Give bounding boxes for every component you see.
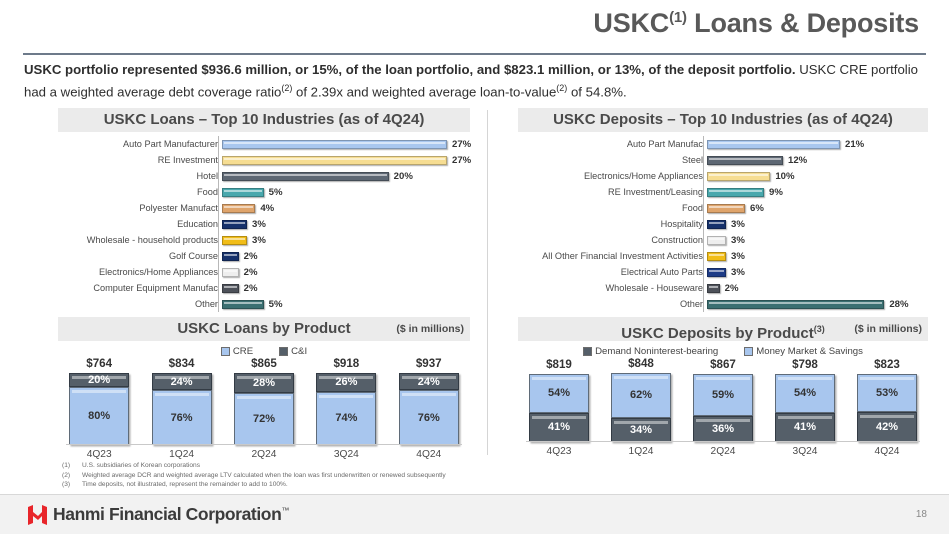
xaxis-deposits-product: 4Q231Q242Q243Q244Q24 <box>518 446 928 457</box>
stack-segment: 53% <box>857 374 917 412</box>
bar-category-label: Education <box>58 219 222 229</box>
bar <box>222 140 447 149</box>
bar-row: Hospitality3% <box>518 216 928 232</box>
panel-loans-product-header: USKC Loans by Product ($ in millions) <box>58 317 470 341</box>
bar <box>707 268 726 277</box>
stack-segment: 54% <box>529 374 589 413</box>
bar <box>707 236 726 245</box>
subtitle-footnote-ref-a: (2) <box>281 83 292 93</box>
xaxis-tick-label: 2Q24 <box>686 446 760 457</box>
stack-segment: 59% <box>693 374 753 416</box>
legend-label: CRE <box>233 346 253 357</box>
bar-category-label: Wholesale - household products <box>58 235 222 245</box>
bar <box>222 188 264 197</box>
panel-loans-industries-header: USKC Loans – Top 10 Industries (as of 4Q… <box>58 108 470 132</box>
xaxis-tick-label: 4Q23 <box>522 446 596 457</box>
stacked-column: $76420%80% <box>62 357 136 445</box>
column-total-label: $798 <box>792 358 818 371</box>
xaxis-tick-label: 4Q24 <box>392 449 466 460</box>
bar <box>707 188 764 197</box>
bar-category-label: Polyester Manufact <box>58 203 222 213</box>
footer: Hanmi Financial Corporation™ 18 <box>0 494 949 534</box>
stack-segment: 41% <box>775 413 835 443</box>
bar-track: 21% <box>707 136 928 152</box>
stack: 20%80% <box>69 373 129 445</box>
subtitle-bold: USKC portfolio represented $936.6 millio… <box>24 62 796 77</box>
bar-value-label: 27% <box>452 139 471 150</box>
stack-segment: 41% <box>529 413 589 443</box>
bar-category-label: Food <box>518 203 707 213</box>
subtitle: USKC portfolio represented $936.6 millio… <box>24 60 929 101</box>
bar-row: Steel12% <box>518 152 928 168</box>
bar-row: Auto Part Manufac21% <box>518 136 928 152</box>
bar-track: 3% <box>222 232 470 248</box>
column-total-label: $848 <box>628 357 654 370</box>
bar-value-label: 5% <box>269 187 283 198</box>
bar-category-label: Computer Equipment Manufac <box>58 283 222 293</box>
bar-row: Hotel20% <box>58 168 470 184</box>
bar-row: RE Investment/Leasing9% <box>518 184 928 200</box>
bar <box>707 220 726 229</box>
xaxis-loans-product: 4Q231Q242Q243Q244Q24 <box>58 449 470 460</box>
bar-track: 5% <box>222 296 470 312</box>
bar-row: Golf Course2% <box>58 248 470 264</box>
baseline <box>66 444 462 445</box>
bar <box>707 252 726 261</box>
bar <box>222 284 239 293</box>
subtitle-rest-3: of 54.8%. <box>567 84 626 99</box>
legend-loans-product: CREC&I <box>58 346 470 357</box>
page-title-rest: Loans & Deposits <box>687 8 919 38</box>
stack-segment: 42% <box>857 412 917 442</box>
bar-value-label: 3% <box>731 251 745 262</box>
stack: 24%76% <box>399 373 459 445</box>
bar-category-label: Construction <box>518 235 707 245</box>
bar-value-label: 2% <box>244 267 258 278</box>
stack-segment: 62% <box>611 373 671 418</box>
stack: 28%72% <box>234 373 294 445</box>
bar-value-label: 3% <box>731 267 745 278</box>
xaxis-tick-label: 1Q24 <box>604 446 678 457</box>
bar-value-label: 2% <box>725 283 739 294</box>
bar-row: Polyester Manufact4% <box>58 200 470 216</box>
panel-divider <box>487 110 488 455</box>
bar-track: 3% <box>707 264 928 280</box>
bar-category-label: Hospitality <box>518 219 707 229</box>
bar-category-label: Golf Course <box>58 251 222 261</box>
stacked-column: $82353%42% <box>850 358 924 442</box>
stack: 53%42% <box>857 374 917 442</box>
bar-track: 20% <box>222 168 470 184</box>
stack: 59%36% <box>693 374 753 442</box>
brand-logo: Hanmi Financial Corporation™ <box>28 504 289 525</box>
footnote-text: Time deposits, not illustrated, represen… <box>82 480 288 490</box>
column-total-label: $937 <box>416 357 442 370</box>
bar <box>222 204 255 213</box>
bar-category-label: Other <box>518 299 707 309</box>
bar <box>222 252 239 261</box>
bar-track: 2% <box>222 280 470 296</box>
stacked-column: $91826%74% <box>309 357 383 445</box>
baseline <box>526 441 920 442</box>
footnotes: (1)U.S. subsidiaries of Korean corporati… <box>62 461 446 490</box>
legend-swatch <box>583 347 592 356</box>
bar-category-label: Electronics/Home Appliances <box>58 267 222 277</box>
bar-track: 2% <box>222 248 470 264</box>
page-title-footnote-ref: (1) <box>669 9 687 26</box>
xaxis-tick-label: 1Q24 <box>145 449 219 460</box>
bar-track: 12% <box>707 152 928 168</box>
bar-row: Construction3% <box>518 232 928 248</box>
columns-loans-product: $76420%80%$83424%76%$86528%72%$91826%74%… <box>58 357 470 445</box>
stack-segment: 36% <box>693 416 753 442</box>
bar-row: Computer Equipment Manufac2% <box>58 280 470 296</box>
panel-deposits-product-units: ($ in millions) <box>854 317 922 341</box>
legend-swatch <box>744 347 753 356</box>
bar-value-label: 6% <box>750 203 764 214</box>
stack-segment: 24% <box>152 373 212 390</box>
bar-row: Auto Part Manufacturer27% <box>58 136 470 152</box>
stack-segment: 54% <box>775 374 835 413</box>
chart-deposits-top10: Auto Part Manufac21%Steel12%Electronics/… <box>518 132 928 312</box>
panel-loans-product-title: USKC Loans by Product <box>177 317 350 341</box>
bar-category-label: All Other Financial Investment Activitie… <box>518 251 707 261</box>
bar <box>707 156 783 165</box>
column-total-label: $865 <box>251 357 277 370</box>
bar-value-label: 3% <box>731 219 745 230</box>
bar-row: Wholesale - household products3% <box>58 232 470 248</box>
footnote: (2)Weighted average DCR and weighted ave… <box>62 471 446 481</box>
bar-track: 2% <box>707 280 928 296</box>
bar-category-label: Electrical Auto Parts <box>518 267 707 277</box>
bar-row: Electronics/Home Appliances10% <box>518 168 928 184</box>
bar-row: Food5% <box>58 184 470 200</box>
hanmi-logo-icon <box>28 505 47 525</box>
legend-item: Demand Noninterest-bearing <box>583 346 718 357</box>
column-total-label: $918 <box>333 357 359 370</box>
bar-category-label: Auto Part Manufacturer <box>58 139 222 149</box>
legend-deposits-product: Demand Noninterest-bearingMoney Market &… <box>518 346 928 357</box>
legend-swatch <box>279 347 288 356</box>
bar-track: 6% <box>707 200 928 216</box>
bar <box>707 204 745 213</box>
bar-track: 2% <box>222 264 470 280</box>
bar-row: Education3% <box>58 216 470 232</box>
bar-value-label: 3% <box>731 235 745 246</box>
stack-segment: 72% <box>234 393 294 445</box>
chart-loans-top10: Auto Part Manufacturer27%RE Investment27… <box>58 132 470 312</box>
stack-segment: 74% <box>316 392 376 445</box>
xaxis-tick-label: 4Q23 <box>62 449 136 460</box>
bar-row: Electronics/Home Appliances2% <box>58 264 470 280</box>
title-divider <box>23 53 926 55</box>
legend-swatch <box>221 347 230 356</box>
bar-track: 3% <box>222 216 470 232</box>
legend-item: Money Market & Savings <box>744 346 863 357</box>
panel-loans-industries: USKC Loans – Top 10 Industries (as of 4Q… <box>58 108 470 312</box>
column-total-label: $834 <box>169 357 195 370</box>
bar-value-label: 12% <box>788 155 807 166</box>
bar-value-label: 28% <box>889 299 908 310</box>
subtitle-footnote-ref-b: (2) <box>556 83 567 93</box>
bar-category-label: Food <box>58 187 222 197</box>
bar <box>707 140 840 149</box>
bar-category-label: Electronics/Home Appliances <box>518 171 707 181</box>
bar-value-label: 4% <box>260 203 274 214</box>
stack: 62%34% <box>611 373 671 442</box>
bar-row: Other28% <box>518 296 928 312</box>
bar <box>707 300 884 309</box>
stack: 54%41% <box>529 374 589 442</box>
panel-deposits-product-title: USKC Deposits by Product <box>621 322 814 346</box>
bar-track: 3% <box>707 216 928 232</box>
bar-value-label: 2% <box>244 283 258 294</box>
footnote-text: U.S. subsidiaries of Korean corporations <box>82 461 200 471</box>
column-total-label: $819 <box>546 358 572 371</box>
legend-label: Money Market & Savings <box>756 346 863 357</box>
stack-segment: 34% <box>611 418 671 442</box>
bar <box>707 172 770 181</box>
panel-loans-product-units: ($ in millions) <box>396 317 464 341</box>
bar-track: 10% <box>707 168 928 184</box>
bar-category-label: Hotel <box>58 171 222 181</box>
panel-deposits-product-footnote-ref: (3) <box>814 324 825 334</box>
bar-value-label: 3% <box>252 235 266 246</box>
panel-loans-product: USKC Loans by Product ($ in millions) CR… <box>58 317 470 460</box>
bar-value-label: 20% <box>394 171 413 182</box>
bar-value-label: 9% <box>769 187 783 198</box>
bar-track: 3% <box>707 248 928 264</box>
footnote-number: (2) <box>62 471 82 481</box>
xaxis-tick-label: 4Q24 <box>850 446 924 457</box>
bar-track: 4% <box>222 200 470 216</box>
footnote-number: (3) <box>62 480 82 490</box>
bar-category-label: Wholesale - Houseware <box>518 283 707 293</box>
stack: 26%74% <box>316 373 376 445</box>
bar-value-label: 21% <box>845 139 864 150</box>
xaxis-tick-label: 2Q24 <box>227 449 301 460</box>
bar-row: Food6% <box>518 200 928 216</box>
footnote: (3)Time deposits, not illustrated, repre… <box>62 480 446 490</box>
stacked-column: $86759%36% <box>686 358 760 442</box>
stack-segment: 76% <box>399 390 459 445</box>
panel-deposits-industries-title: USKC Deposits – Top 10 Industries (as of… <box>553 108 893 132</box>
legend-label: Demand Noninterest-bearing <box>595 346 718 357</box>
stack-segment: 28% <box>234 373 294 393</box>
stacked-column: $83424%76% <box>145 357 219 445</box>
stacked-column: $79854%41% <box>768 358 842 442</box>
panel-deposits-product: USKC Deposits by Product(3) ($ in millio… <box>518 317 928 457</box>
bar-row: RE Investment27% <box>58 152 470 168</box>
column-total-label: $823 <box>874 358 900 371</box>
bar-value-label: 10% <box>775 171 794 182</box>
subtitle-rest-2: of 2.39x and weighted average loan-to-va… <box>292 84 556 99</box>
bar-track: 28% <box>707 296 928 312</box>
legend-item: C&I <box>279 346 307 357</box>
bar-track: 5% <box>222 184 470 200</box>
panel-loans-industries-title: USKC Loans – Top 10 Industries (as of 4Q… <box>104 108 425 132</box>
slide: USKC(1) Loans & Deposits USKC portfolio … <box>0 0 949 534</box>
stacked-column: $81954%41% <box>522 358 596 442</box>
stacked-column: $93724%76% <box>392 357 466 445</box>
bar <box>707 284 720 293</box>
legend-item: CRE <box>221 346 253 357</box>
stacked-column: $84862%34% <box>604 357 678 442</box>
xaxis-tick-label: 3Q24 <box>768 446 842 457</box>
page-title: USKC(1) Loans & Deposits <box>593 8 919 39</box>
bar-value-label: 5% <box>269 299 283 310</box>
bar-value-label: 27% <box>452 155 471 166</box>
bar <box>222 172 389 181</box>
columns-deposits-product: $81954%41%$84862%34%$86759%36%$79854%41%… <box>518 357 928 442</box>
bar <box>222 220 247 229</box>
stacked-column: $86528%72% <box>227 357 301 445</box>
stack-segment: 26% <box>316 373 376 392</box>
brand-name: Hanmi Financial Corporation™ <box>53 504 289 525</box>
bar-row: Electrical Auto Parts3% <box>518 264 928 280</box>
bar-track: 27% <box>222 136 471 152</box>
bar <box>222 300 264 309</box>
stack-segment: 80% <box>69 387 129 445</box>
xaxis-tick-label: 3Q24 <box>309 449 383 460</box>
bar-row: Other5% <box>58 296 470 312</box>
bar-track: 9% <box>707 184 928 200</box>
bar-category-label: Other <box>58 299 222 309</box>
bar-category-label: RE Investment/Leasing <box>518 187 707 197</box>
column-total-label: $867 <box>710 358 736 371</box>
legend-label: C&I <box>291 346 307 357</box>
stack-segment: 76% <box>152 390 212 445</box>
bar-category-label: RE Investment <box>58 155 222 165</box>
bar-value-label: 3% <box>252 219 266 230</box>
bar <box>222 268 239 277</box>
bar-value-label: 2% <box>244 251 258 262</box>
bar-row: All Other Financial Investment Activitie… <box>518 248 928 264</box>
stack-segment: 20% <box>69 373 129 387</box>
column-total-label: $764 <box>86 357 112 370</box>
bar-category-label: Auto Part Manufac <box>518 139 707 149</box>
bar <box>222 236 247 245</box>
panel-deposits-industries-header: USKC Deposits – Top 10 Industries (as of… <box>518 108 928 132</box>
footnote-text: Weighted average DCR and weighted averag… <box>82 471 446 481</box>
stack: 54%41% <box>775 374 835 442</box>
bar-row: Wholesale - Houseware2% <box>518 280 928 296</box>
stack-segment: 24% <box>399 373 459 390</box>
bar-track: 3% <box>707 232 928 248</box>
bar-track: 27% <box>222 152 471 168</box>
bar-category-label: Steel <box>518 155 707 165</box>
footnote: (1)U.S. subsidiaries of Korean corporati… <box>62 461 446 471</box>
page-title-main: USKC <box>593 8 669 38</box>
footnote-number: (1) <box>62 461 82 471</box>
stack: 24%76% <box>152 373 212 445</box>
panel-deposits-industries: USKC Deposits – Top 10 Industries (as of… <box>518 108 928 312</box>
page-number: 18 <box>916 509 927 520</box>
bar <box>222 156 447 165</box>
panel-deposits-product-header: USKC Deposits by Product(3) ($ in millio… <box>518 317 928 341</box>
